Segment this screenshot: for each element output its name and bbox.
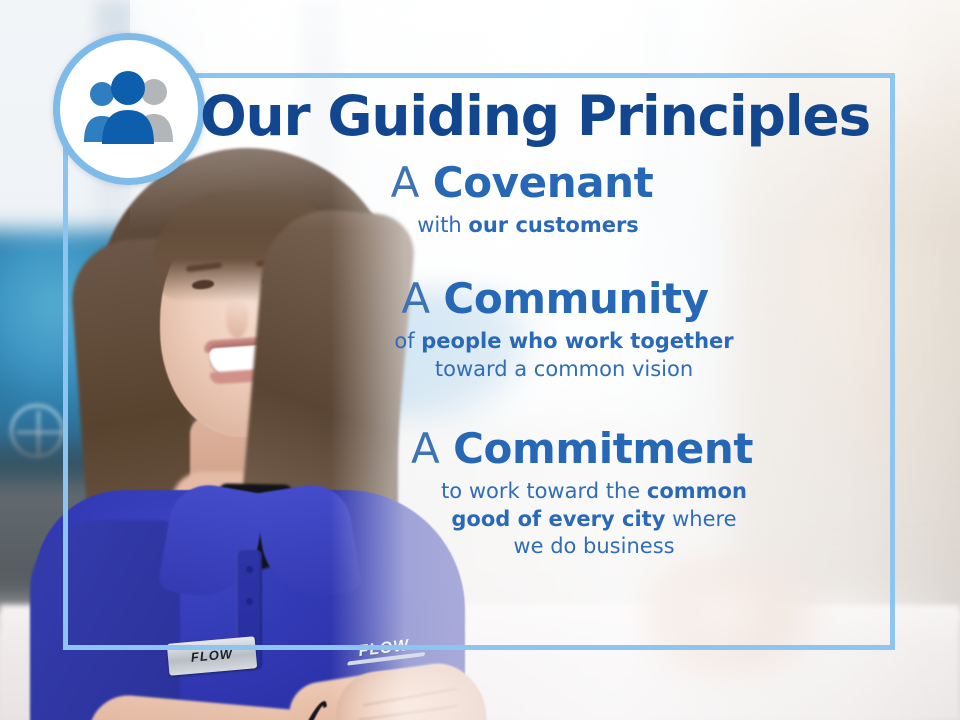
principle-covenant: A Covenant with our customers (176, 160, 868, 240)
principle-heading: A Community (242, 276, 868, 322)
principle-article: A (391, 158, 420, 207)
people-group-icon (75, 70, 183, 148)
page-title: Our Guiding Principles (200, 88, 868, 144)
principle-subtext: of people who work togethertoward a comm… (260, 328, 868, 383)
badge-logo-text: FLOW (190, 647, 233, 664)
principle-subtext: to work toward the commongood of every c… (374, 478, 814, 561)
principle-word: Commitment (453, 424, 753, 473)
principle-heading: A Covenant (176, 160, 868, 206)
principle-word: Community (443, 274, 708, 323)
principle-article: A (401, 274, 430, 323)
shoulder-left (30, 520, 180, 720)
principle-subtext: with our customers (188, 212, 868, 240)
principle-word: Covenant (433, 158, 654, 207)
poster: FLOW FLOW (0, 0, 960, 720)
text-content: Our Guiding Principles A Covenant with o… (200, 88, 868, 638)
principle-heading: A Commitment (296, 426, 868, 472)
principle-commitment: A Commitment to work toward the commongo… (296, 426, 868, 561)
principle-community: A Community of people who work togethert… (242, 276, 868, 384)
principle-article: A (411, 424, 440, 473)
